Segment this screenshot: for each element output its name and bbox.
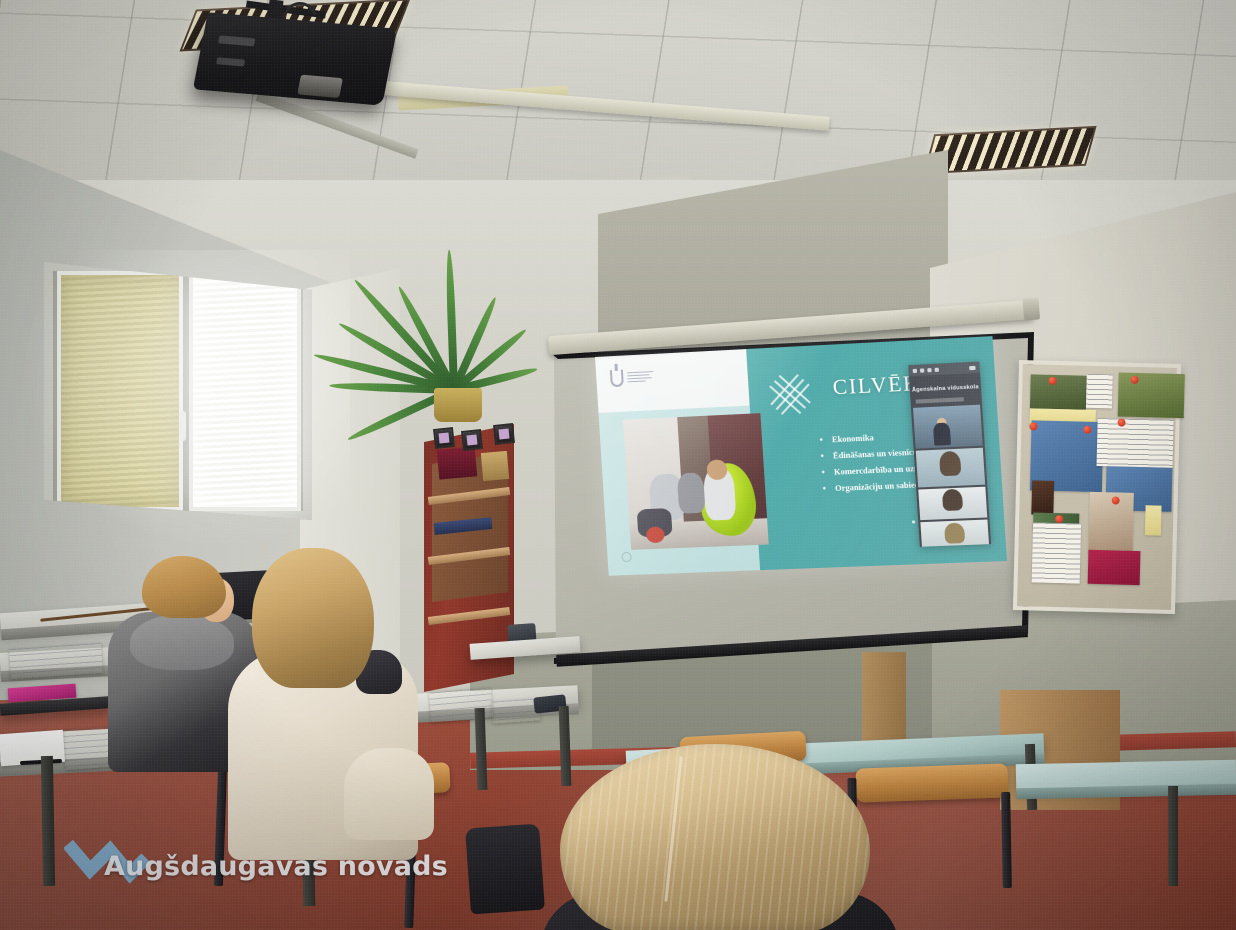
video-call-titlebar	[908, 361, 980, 376]
board-pink-flyer	[1088, 550, 1141, 585]
window-control-icon	[920, 368, 924, 372]
window-handle[interactable]	[179, 411, 186, 441]
video-call-tile[interactable]	[918, 487, 987, 520]
projector-lens-icon	[297, 75, 343, 98]
girl-hair	[252, 548, 374, 688]
picture-frame	[433, 427, 455, 449]
slide-minor-dot	[912, 520, 915, 523]
board-handwritten-note	[1097, 418, 1174, 468]
video-call-title: Āgenskalna vidusskola	[910, 384, 982, 394]
participant-hair	[939, 451, 962, 476]
video-call-tile[interactable]	[920, 520, 989, 547]
book-tan	[481, 451, 509, 481]
video-call-subtitle	[916, 397, 964, 403]
slide-photo-students	[623, 413, 769, 550]
window-control-icon	[927, 368, 931, 372]
photo-student	[703, 467, 737, 521]
board-yellow-tab	[1145, 505, 1162, 535]
university-wordmark	[627, 371, 654, 383]
presentation-slide: CILVĒKS Ekonomika Ēdināšanas un viesnīcu…	[595, 336, 1007, 576]
board-photo-field-trip	[1118, 372, 1185, 418]
window-maximize-icon	[969, 365, 976, 369]
board-note-small	[1086, 374, 1113, 409]
projector-vent-icon	[218, 35, 255, 46]
paper-sheet-1	[9, 643, 103, 679]
board-photo-group-outdoors	[1030, 374, 1087, 409]
board-dark-clipping	[1031, 480, 1054, 515]
university-crest-icon	[610, 369, 624, 387]
photo-student	[677, 472, 706, 513]
book-red	[437, 446, 477, 479]
watermark: Augšdaugavas novads	[64, 838, 448, 894]
projector-vent-secondary-icon	[216, 57, 245, 66]
crosshatch-ornament-icon	[768, 372, 812, 414]
window-control-icon	[935, 367, 939, 371]
video-call-tile[interactable]	[913, 405, 983, 449]
board-printed-letter	[1032, 522, 1081, 583]
picture-frame	[493, 423, 515, 445]
desk-far-right	[1016, 760, 1236, 791]
watermark-text: Augšdaugavas novads	[104, 851, 448, 882]
chair-wood-2[interactable]	[855, 763, 1008, 802]
classroom-scene: CILVĒKS Ekonomika Ēdināšanas un viesnīcu…	[0, 0, 1236, 930]
ceiling-projector	[193, 12, 397, 106]
girl-arm	[344, 748, 434, 840]
dracaena-plant	[392, 276, 532, 436]
desk-leg	[41, 756, 55, 886]
picture-frame	[461, 429, 483, 451]
plant-pot	[434, 388, 482, 422]
participant-hair	[944, 523, 965, 544]
participant-hair	[942, 489, 963, 511]
video-call-window[interactable]: Āgenskalna vidusskola	[908, 361, 991, 546]
university-logo	[610, 366, 663, 389]
desk-leg	[1168, 786, 1178, 886]
projection-screen-assembly: CILVĒKS Ekonomika Ēdināšanas un viesnīcu…	[548, 318, 1040, 670]
backpack[interactable]	[465, 824, 545, 915]
boy-hood	[130, 614, 234, 670]
window-control-icon	[913, 368, 917, 372]
cork-bulletin-board	[1013, 360, 1181, 614]
window-blind-right	[189, 271, 301, 511]
screen-roller-endcap	[1022, 297, 1040, 320]
chair-leg	[1001, 792, 1012, 888]
video-call-tile[interactable]	[916, 448, 985, 488]
classroom-window	[44, 262, 312, 520]
window-blind-left	[57, 271, 183, 511]
